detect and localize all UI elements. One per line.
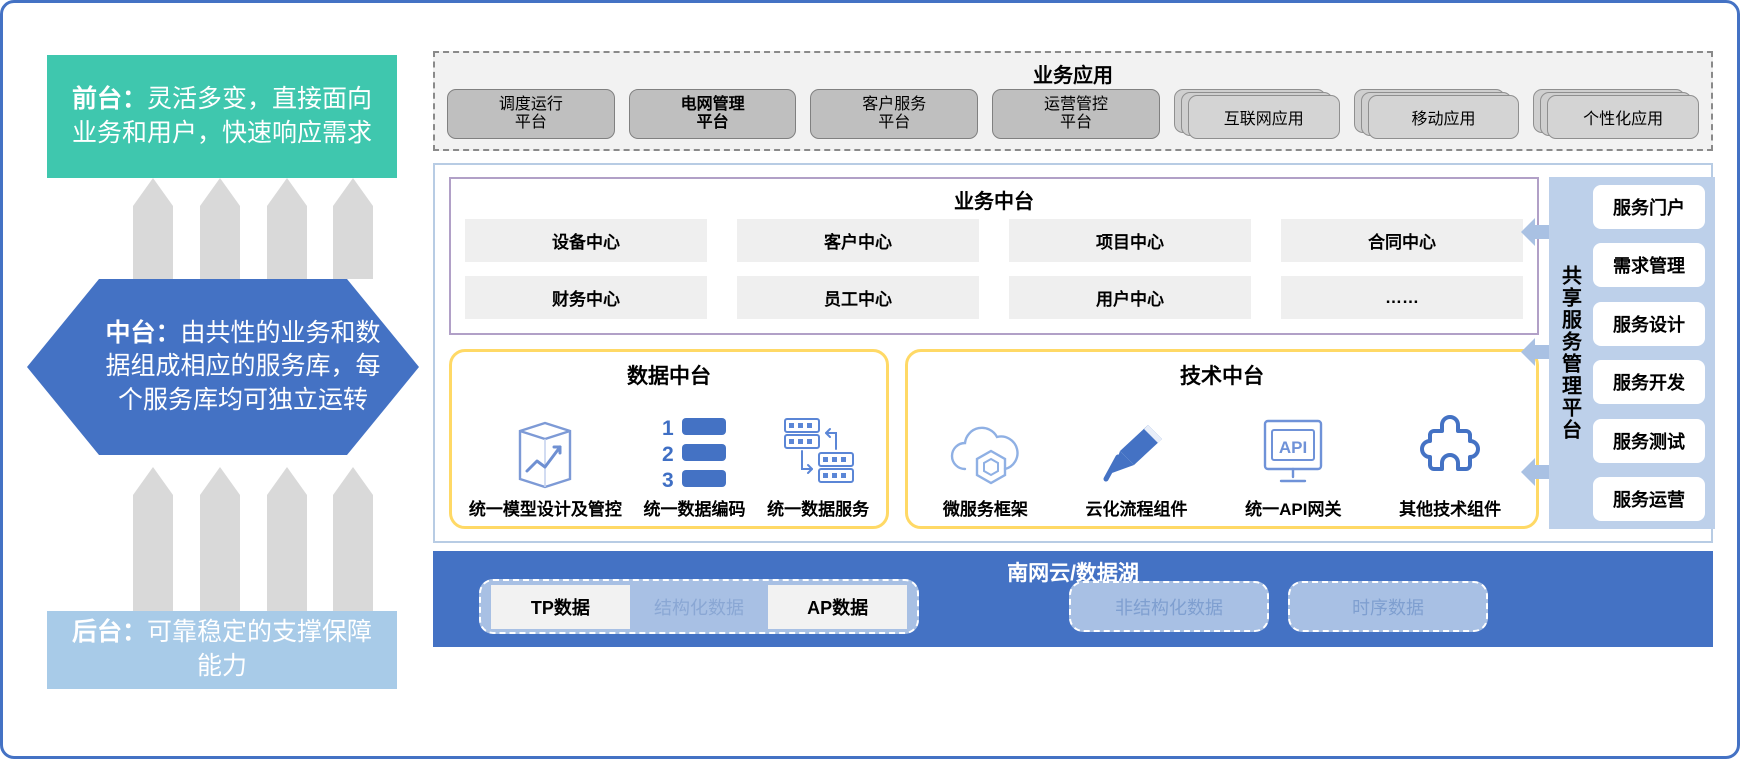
tp-data-chip[interactable]: TP数据: [491, 585, 630, 629]
app-card-customer-service[interactable]: 客户服务 平台: [810, 89, 978, 139]
svg-text:2: 2: [662, 443, 674, 466]
center-label: 合同中心: [1368, 228, 1436, 253]
data-platform-items: 统一模型设计及管控 1 2 3: [458, 394, 880, 520]
cloud-data-lake-band: 南网云/数据湖 TP数据 结构化数据 AP数据 非结构化数据 时序数据: [433, 551, 1713, 647]
app-card-operations-control[interactable]: 运营管控 平台: [992, 89, 1160, 139]
center-cell-contract[interactable]: 合同中心: [1281, 219, 1523, 262]
tech-item-label: 微服务框架: [943, 495, 1028, 520]
shared-item-label: 服务设计: [1613, 311, 1685, 337]
business-application-cards: 调度运行 平台 电网管理 平台 客户服务 平台 运营管控 平台 互联网应用: [447, 89, 1699, 139]
shared-service-item-design[interactable]: 服务设计: [1593, 302, 1705, 346]
tech-item-api-gateway[interactable]: API 统一API网关: [1245, 409, 1341, 520]
business-mid-platform-title: 业务中台: [451, 179, 1537, 214]
shared-service-item-testing[interactable]: 服务测试: [1593, 419, 1705, 463]
shared-service-item-requirements[interactable]: 需求管理: [1593, 243, 1705, 287]
front-tier-bold: 前台：: [72, 85, 147, 113]
app-card-label: 调度运行 平台: [499, 96, 563, 132]
numbered-list-icon: 1 2 3: [658, 409, 730, 493]
data-item-label: 统一模型设计及管控: [469, 495, 622, 520]
model-box-chart-icon: [512, 409, 578, 493]
architecture-diagram: 前台：灵活多变，直接面向业务和用户，快速响应需求 中台：由共性的业务和数据组成相…: [0, 0, 1740, 759]
tech-mid-platform-title: 技术中台: [908, 352, 1536, 390]
app-card-label: 个性化应用: [1583, 105, 1663, 129]
ap-data-label: AP数据: [807, 594, 868, 620]
puzzle-piece-icon: [1412, 409, 1488, 493]
shared-service-panel: 共享服务管理平台 服务门户 需求管理 服务设计 服务开发 服务测试 服务运营: [1549, 177, 1715, 529]
middle-platform-panel: 业务中台 设备中心 客户中心 项目中心 合同中心 财务中心 员工中心 用户中心 …: [433, 163, 1713, 543]
app-card-internet-apps[interactable]: 互联网应用: [1174, 89, 1340, 139]
server-exchange-icon: [780, 409, 856, 493]
shared-service-item-development[interactable]: 服务开发: [1593, 360, 1705, 404]
tech-item-other-components[interactable]: 其他技术组件: [1399, 409, 1501, 520]
structured-data-label-chip: 结构化数据: [630, 585, 769, 629]
shared-item-label: 服务测试: [1613, 428, 1685, 454]
architecture-body: 业务应用 调度运行 平台 电网管理 平台 客户服务 平台 运营管控 平台: [433, 3, 1713, 759]
center-label: 设备中心: [552, 228, 620, 253]
center-label: 客户中心: [824, 228, 892, 253]
center-label: 项目中心: [1096, 228, 1164, 253]
structured-data-group: TP数据 结构化数据 AP数据: [479, 579, 919, 634]
center-label: 员工中心: [824, 285, 892, 310]
data-item-unified-service[interactable]: 统一数据服务: [767, 409, 869, 520]
data-item-unified-coding[interactable]: 1 2 3 统一数据编码: [643, 409, 745, 520]
center-label: ……: [1385, 288, 1419, 308]
shared-item-label: 服务运营: [1613, 486, 1685, 512]
timeseries-data-label: 时序数据: [1352, 594, 1424, 620]
center-label: 用户中心: [1096, 285, 1164, 310]
data-item-model-design[interactable]: 统一模型设计及管控: [469, 409, 622, 520]
data-mid-platform-title: 数据中台: [452, 352, 886, 390]
shared-item-label: 需求管理: [1613, 252, 1685, 278]
timeseries-data-chip[interactable]: 时序数据: [1288, 581, 1488, 632]
app-card-label: 移动应用: [1411, 105, 1475, 129]
cloud-microservice-icon: [947, 409, 1023, 493]
shared-item-label: 服务开发: [1613, 369, 1685, 395]
shared-service-title: 共享服务管理平台: [1549, 177, 1591, 529]
center-cell-project[interactable]: 项目中心: [1009, 219, 1251, 262]
tech-item-label: 其他技术组件: [1399, 495, 1501, 520]
shared-service-item-operations[interactable]: 服务运营: [1593, 477, 1705, 521]
center-cell-more[interactable]: ……: [1281, 276, 1523, 319]
structured-data-label: 结构化数据: [654, 594, 744, 620]
app-card-mobile-apps[interactable]: 移动应用: [1354, 89, 1520, 139]
svg-text:1: 1: [662, 417, 674, 440]
shared-service-item-portal[interactable]: 服务门户: [1593, 185, 1705, 229]
shared-service-items: 服务门户 需求管理 服务设计 服务开发 服务测试 服务运营: [1591, 177, 1715, 529]
center-cell-employee[interactable]: 员工中心: [737, 276, 979, 319]
tp-data-label: TP数据: [531, 594, 590, 620]
center-label: 财务中心: [552, 285, 620, 310]
center-cell-user[interactable]: 用户中心: [1009, 276, 1251, 319]
api-monitor-icon: API: [1255, 409, 1331, 493]
app-card-label: 互联网应用: [1224, 105, 1304, 129]
stack-sheet-front: 移动应用: [1368, 95, 1520, 139]
back-tier-box: 后台：可靠稳定的支撑保障能力: [47, 611, 397, 689]
middle-tier-bold: 中台：: [105, 319, 180, 347]
back-tier-bold: 后台：: [72, 618, 147, 646]
app-card-grid-management[interactable]: 电网管理 平台: [629, 89, 797, 139]
front-tier-box: 前台：灵活多变，直接面向业务和用户，快速响应需求: [47, 55, 397, 178]
cloud-flow-plug-icon: [1098, 409, 1174, 493]
tech-item-label: 云化流程组件: [1085, 495, 1187, 520]
stack-sheet-front: 个性化应用: [1547, 95, 1699, 139]
center-cell-customer[interactable]: 客户中心: [737, 219, 979, 262]
data-mid-platform: 数据中台 统一模型设计及管控: [449, 349, 889, 529]
shared-item-label: 服务门户: [1613, 194, 1685, 220]
app-card-label: 运营管控 平台: [1044, 96, 1108, 132]
tier-column: 前台：灵活多变，直接面向业务和用户，快速响应需求 中台：由共性的业务和数据组成相…: [47, 3, 397, 759]
upward-arrows-upper: [133, 178, 373, 279]
app-card-label: 客户服务 平台: [862, 96, 926, 132]
app-card-personalized-apps[interactable]: 个性化应用: [1533, 89, 1699, 139]
tech-mid-platform: 技术中台 微服务框架: [905, 349, 1539, 529]
tech-item-microservice[interactable]: 微服务框架: [943, 409, 1028, 520]
data-item-label: 统一数据服务: [767, 495, 869, 520]
business-application-title: 业务应用: [435, 59, 1711, 88]
unstructured-data-chip[interactable]: 非结构化数据: [1069, 581, 1269, 632]
tech-item-cloud-flow[interactable]: 云化流程组件: [1085, 409, 1187, 520]
app-card-dispatch[interactable]: 调度运行 平台: [447, 89, 615, 139]
ap-data-chip[interactable]: AP数据: [768, 585, 907, 629]
app-card-label: 电网管理 平台: [681, 96, 745, 132]
center-cell-equipment[interactable]: 设备中心: [465, 219, 707, 262]
upward-arrows-lower: [133, 455, 373, 611]
business-mid-platform: 业务中台 设备中心 客户中心 项目中心 合同中心 财务中心 员工中心 用户中心 …: [449, 177, 1539, 335]
middle-tier-label: 中台：由共性的业务和数据组成相应的服务库，每个服务库均可独立运转: [99, 279, 387, 455]
svg-text:3: 3: [662, 469, 674, 489]
center-cell-finance[interactable]: 财务中心: [465, 276, 707, 319]
unstructured-data-label: 非结构化数据: [1115, 594, 1223, 620]
back-tier-text: 可靠稳定的支撑保障能力: [147, 618, 372, 680]
tech-platform-items: 微服务框架 云化流程组件: [914, 394, 1530, 520]
tech-item-label: 统一API网关: [1245, 495, 1341, 520]
data-item-label: 统一数据编码: [643, 495, 745, 520]
business-application-band: 业务应用 调度运行 平台 电网管理 平台 客户服务 平台 运营管控 平台: [433, 51, 1713, 151]
business-center-grid: 设备中心 客户中心 项目中心 合同中心 财务中心 员工中心 用户中心 ……: [465, 219, 1523, 319]
stack-sheet-front: 互联网应用: [1188, 95, 1340, 139]
svg-text:API: API: [1279, 438, 1307, 457]
